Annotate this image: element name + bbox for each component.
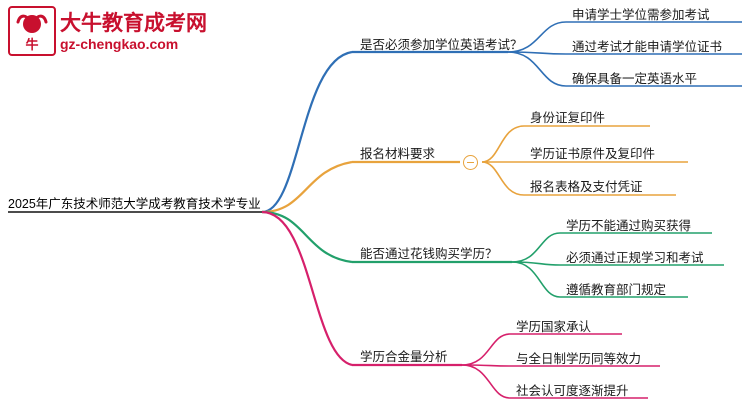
mindmap-canvas: 牛 大牛教育成考网 gz-chengkao.com 2025年广东技术师范大学成…: [0, 0, 750, 410]
logo-sub-text: gz-chengkao.com: [60, 36, 178, 52]
connector-leaf-4-3: [462, 365, 510, 398]
mindmap-branch-2[interactable]: 报名材料要求: [360, 147, 435, 161]
mindmap-leaf-1-3[interactable]: 确保具备一定英语水平: [572, 72, 697, 86]
site-logo[interactable]: 牛 大牛教育成考网 gz-chengkao.com: [8, 6, 198, 58]
mindmap-branch-1[interactable]: 是否必须参加学位英语考试？: [360, 38, 523, 52]
mindmap-leaf-1-1[interactable]: 申请学士学位需参加考试: [572, 8, 710, 22]
mindmap-branch-3[interactable]: 能否通过花钱购买学历？: [360, 247, 498, 261]
mindmap-leaf-3-1[interactable]: 学历不能通过购买获得: [566, 219, 691, 233]
connector-leaf-3-1: [512, 233, 560, 262]
logo-main-text: 大牛教育成考网: [60, 7, 207, 37]
connector-leaf-1-3: [508, 52, 566, 86]
mindmap-leaf-2-2[interactable]: 学历证书原件及复印件: [530, 147, 655, 161]
connector-leaf-4-1: [462, 334, 510, 365]
mindmap-leaf-2-1[interactable]: 身份证复印件: [530, 111, 605, 125]
mindmap-leaf-4-3[interactable]: 社会认可度逐渐提升: [516, 384, 629, 398]
collapse-toggle-icon[interactable]: [463, 155, 478, 170]
mindmap-leaf-3-2[interactable]: 必须通过正规学习和考试: [566, 251, 704, 265]
mindmap-leaf-3-3[interactable]: 遵循教育部门规定: [566, 283, 666, 297]
svg-text:牛: 牛: [25, 37, 38, 52]
connector-leaf-3-3: [512, 262, 560, 297]
mindmap-root-node[interactable]: 2025年广东技术师范大学成考教育技术学专业: [8, 197, 261, 211]
mindmap-leaf-4-2[interactable]: 与全日制学历同等效力: [516, 352, 641, 366]
mindmap-branch-4[interactable]: 学历合金量分析: [360, 350, 448, 364]
mindmap-leaf-2-3[interactable]: 报名表格及支付凭证: [530, 180, 643, 194]
connector-branch-3: [262, 212, 352, 262]
bull-logo-icon: 牛: [8, 6, 56, 56]
connector-leaf-2-3: [482, 162, 524, 195]
connector-leaf-2-1: [482, 126, 524, 162]
mindmap-leaf-4-1[interactable]: 学历国家承认: [516, 320, 591, 334]
mindmap-leaf-1-2[interactable]: 通过考试才能申请学位证书: [572, 40, 722, 54]
